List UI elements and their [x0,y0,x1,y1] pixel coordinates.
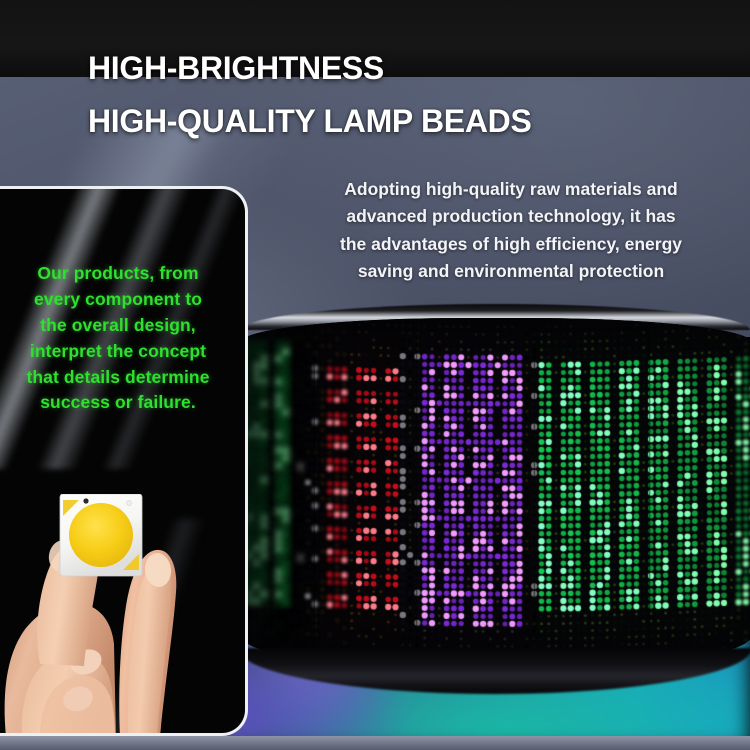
info-line-2: every component to [2,287,234,313]
description-paragraph: Adopting high-quality raw materials and … [278,176,744,285]
hand-holding-led-chip-photo [0,494,236,736]
info-line-5: that details determine [2,365,234,391]
led-pixel-matrix [240,318,750,670]
headline-group: HIGH-BRIGHTNESS HIGH-QUALITY LAMP BEADS [88,52,532,137]
info-line-6: success or failure. [2,390,234,416]
info-line-3: the overall design, [2,313,234,339]
headline-secondary: HIGH-QUALITY LAMP BEADS [88,105,532,137]
description-line-3: the advantages of high efficiency, energ… [278,231,744,258]
info-line-4: interpret the concept [2,339,234,365]
description-line-2: advanced production technology, it has [278,203,744,230]
description-line-4: saving and environmental protection [278,258,744,285]
led-display-unit [232,296,750,716]
info-line-1: Our products, from [2,261,234,287]
bottom-edge-strip [0,736,750,750]
description-line-1: Adopting high-quality raw materials and [278,176,744,203]
info-panel: Our products, from every component to th… [0,186,248,736]
info-panel-text: Our products, from every component to th… [0,261,242,416]
promo-banner: Our products, from every component to th… [0,0,750,750]
headline-primary: HIGH-BRIGHTNESS [88,52,532,84]
led-bottom-rim [238,648,750,694]
